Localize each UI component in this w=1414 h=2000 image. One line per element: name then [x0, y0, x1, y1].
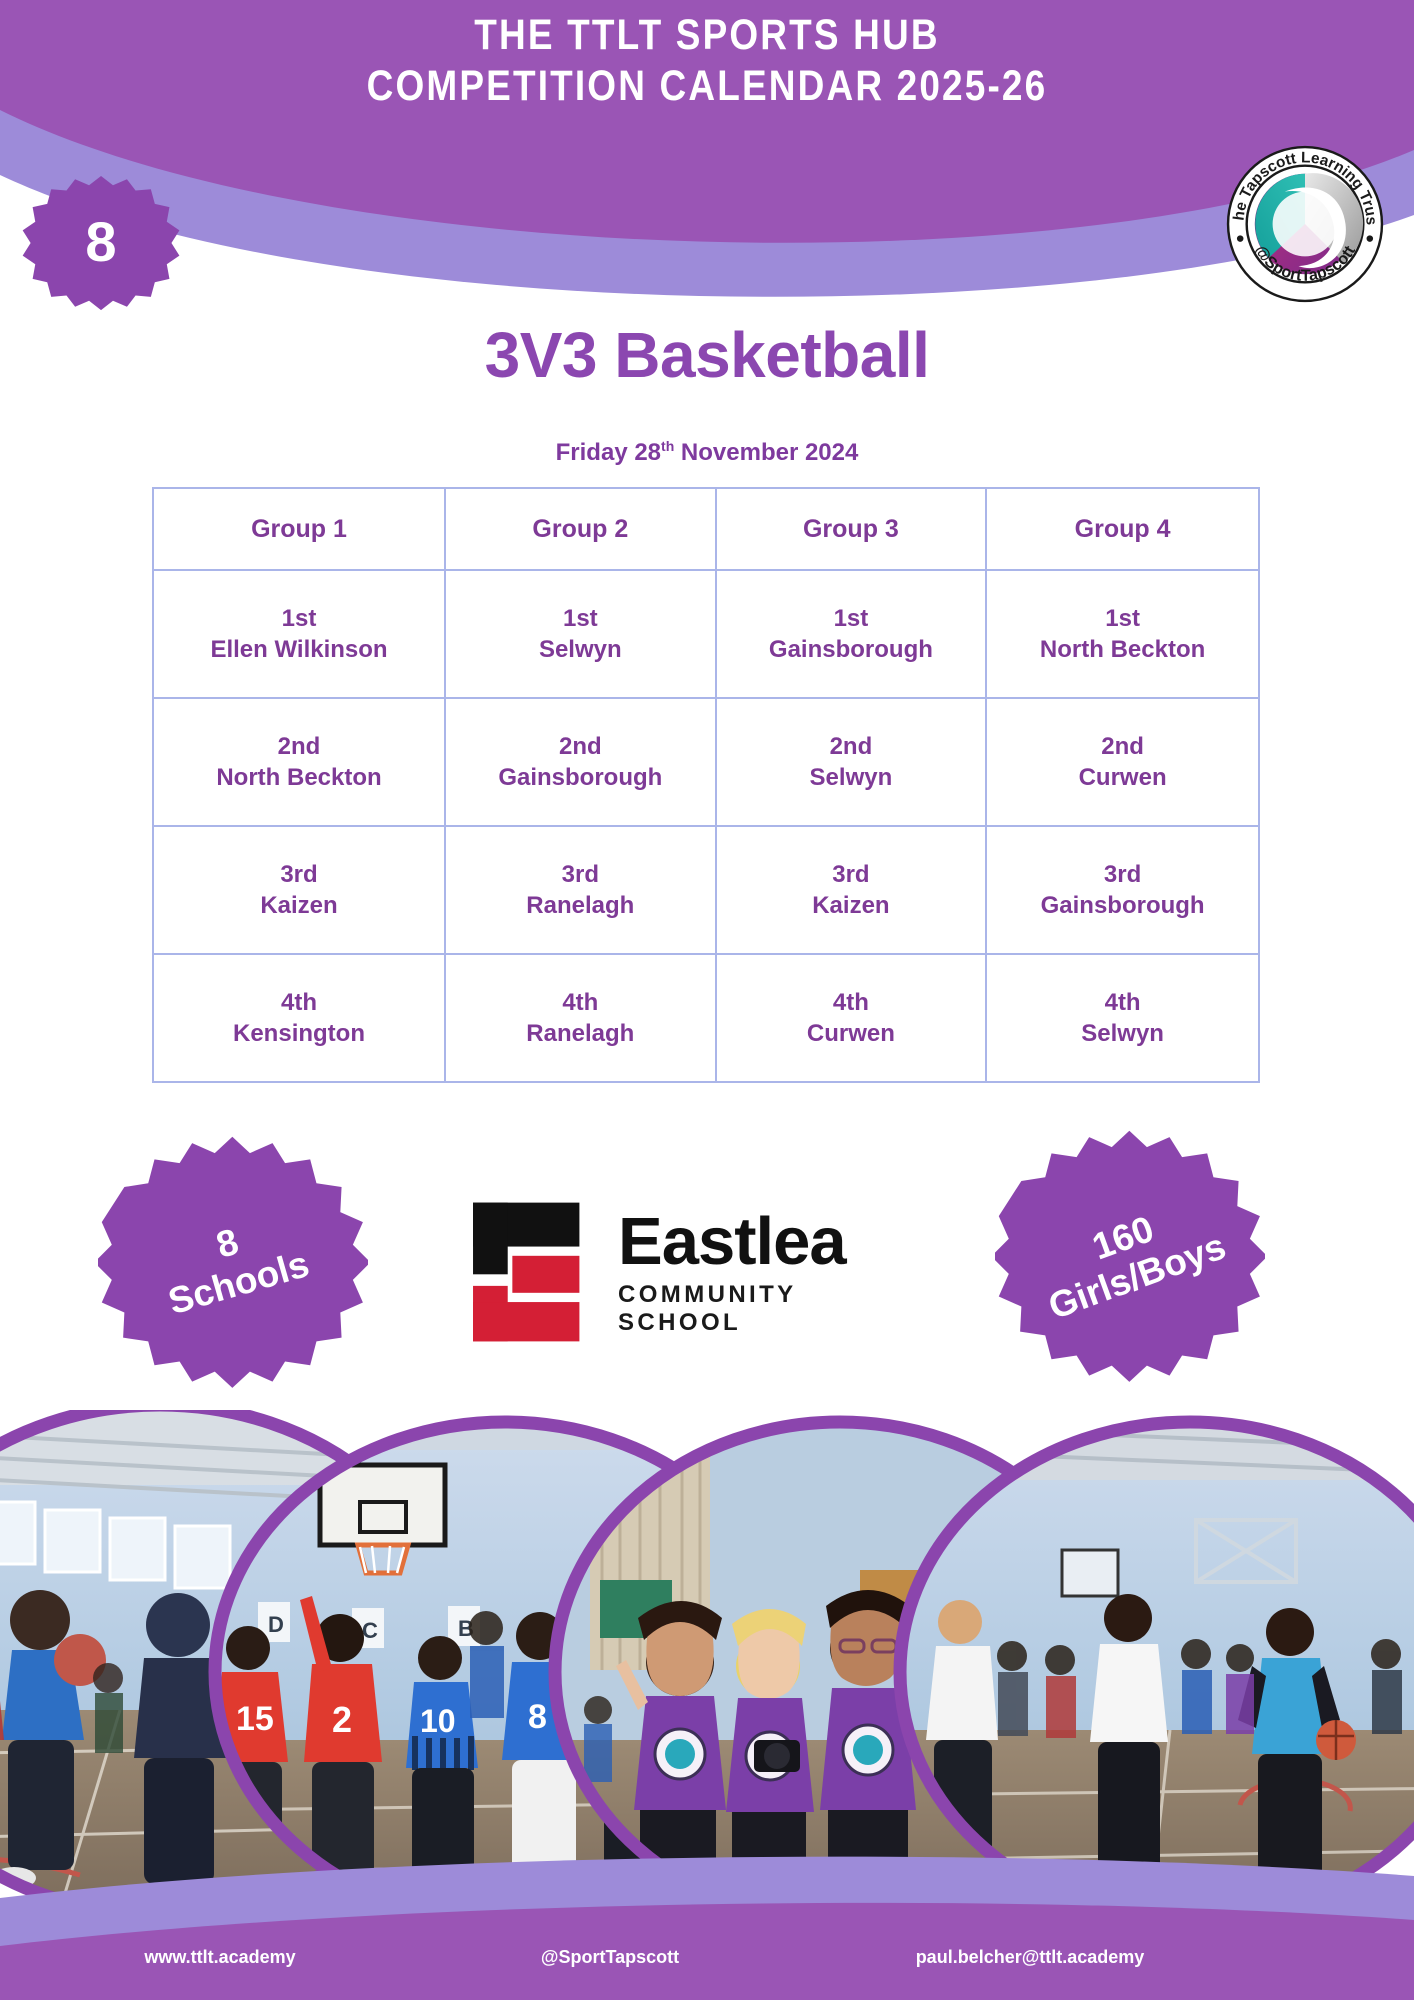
footer-social-handle[interactable]: @SportTapscott [440, 1947, 780, 1968]
footer-contact-bar: www.ttlt.academy @SportTapscott paul.bel… [0, 1947, 1414, 1968]
event-date: Friday 28th November 2024 [0, 438, 1414, 467]
header-line-2: COMPETITION CALENDAR 2025-26 [99, 61, 1315, 112]
table-row: 3rd Kaizen 3rd Ranelagh 3rd Kaizen 3rd G… [153, 826, 1259, 954]
table-cell: 1st North Beckton [986, 570, 1259, 698]
eastlea-e-mark-icon [468, 1198, 596, 1346]
rank-label: 1st [446, 603, 715, 634]
table-cell: 3rd Ranelagh [445, 826, 716, 954]
rank-label: 4th [446, 987, 715, 1018]
table-cell: 4th Kensington [153, 954, 445, 1082]
svg-text:8: 8 [528, 1698, 547, 1736]
rank-label: 2nd [717, 731, 986, 762]
team-name: Selwyn [987, 1018, 1258, 1049]
table-row: 4th Kensington 4th Ranelagh 4th Curwen 4… [153, 954, 1259, 1082]
table-cell: 1st Ellen Wilkinson [153, 570, 445, 698]
team-name: Ellen Wilkinson [154, 634, 444, 665]
photo-gallery-strip: D C B A 15 [0, 1410, 1414, 1910]
table-cell: 3rd Kaizen [153, 826, 445, 954]
stat-value: 8 [212, 1220, 243, 1266]
team-name: Ranelagh [446, 890, 715, 921]
eastlea-community-school-logo: Eastlea COMMUNITY SCHOOL [468, 1182, 928, 1362]
eastlea-name: Eastlea [618, 1208, 928, 1275]
svg-text:2: 2 [332, 1699, 352, 1740]
header-line-1: THE TTLT SPORTS HUB [99, 10, 1315, 61]
team-name: Selwyn [446, 634, 715, 665]
team-name: Curwen [987, 762, 1258, 793]
rank-label: 1st [154, 603, 444, 634]
event-title: 3V3 Basketball [0, 318, 1414, 392]
event-number-badge: 8 [20, 160, 182, 322]
team-name: North Beckton [154, 762, 444, 793]
group-results-table: Group 1 Group 2 Group 3 Group 4 1st Elle… [152, 487, 1260, 1083]
team-name: Kaizen [717, 890, 986, 921]
footer-email[interactable]: paul.belcher@ttlt.academy [780, 1947, 1280, 1968]
table-cell: 1st Gainsborough [716, 570, 987, 698]
eastlea-wordmark: Eastlea COMMUNITY SCHOOL [618, 1208, 928, 1337]
stat-badge-schools: 8 Schools [98, 1128, 368, 1398]
rank-label: 4th [154, 987, 444, 1018]
rank-label: 4th [987, 987, 1258, 1018]
table-cell: 2nd Gainsborough [445, 698, 716, 826]
rank-label: 3rd [446, 859, 715, 890]
poster-root: THE TTLT SPORTS HUB COMPETITION CALENDAR… [0, 0, 1414, 2000]
stat-badge-participants: 160 Girls/Boys [995, 1122, 1265, 1392]
table-header-group-2: Group 2 [445, 488, 716, 570]
table-header-group-3: Group 3 [716, 488, 987, 570]
team-name: North Beckton [987, 634, 1258, 665]
event-number-value: 8 [20, 160, 182, 322]
team-name: Gainsborough [446, 762, 715, 793]
rank-label: 1st [717, 603, 986, 634]
table-cell: 2nd Curwen [986, 698, 1259, 826]
rank-label: 1st [987, 603, 1258, 634]
rank-label: 3rd [154, 859, 444, 890]
table-row: 1st Ellen Wilkinson 1st Selwyn 1st Gains… [153, 570, 1259, 698]
team-name: Gainsborough [717, 634, 986, 665]
table-cell: 3rd Kaizen [716, 826, 987, 954]
team-name: Kensington [154, 1018, 444, 1049]
table-header-group-1: Group 1 [153, 488, 445, 570]
table-header-row: Group 1 Group 2 Group 3 Group 4 [153, 488, 1259, 570]
svg-text:D: D [268, 1612, 284, 1637]
footer-wave-banner [0, 1850, 1414, 2000]
event-date-prefix: Friday 28 [556, 439, 661, 466]
table-cell: 3rd Gainsborough [986, 826, 1259, 954]
rank-label: 2nd [154, 731, 444, 762]
footer-website[interactable]: www.ttlt.academy [0, 1947, 440, 1968]
team-name: Ranelagh [446, 1018, 715, 1049]
table-cell: 4th Curwen [716, 954, 987, 1082]
rank-label: 4th [717, 987, 986, 1018]
tapscott-learning-trust-logo: The Tapscott Learning Trust @SportTapsco… [1224, 143, 1386, 305]
team-name: Kaizen [154, 890, 444, 921]
table-cell: 4th Selwyn [986, 954, 1259, 1082]
table-cell: 2nd Selwyn [716, 698, 987, 826]
eastlea-subtitle: COMMUNITY SCHOOL [618, 1281, 928, 1337]
rank-label: 2nd [987, 731, 1258, 762]
table-cell: 2nd North Beckton [153, 698, 445, 826]
svg-text:10: 10 [420, 1703, 456, 1739]
table-row: 2nd North Beckton 2nd Gainsborough 2nd S… [153, 698, 1259, 826]
svg-text:C: C [362, 1618, 378, 1643]
event-date-ordinal: th [661, 438, 674, 454]
table-cell: 4th Ranelagh [445, 954, 716, 1082]
event-date-suffix: November 2024 [674, 439, 858, 466]
rank-label: 3rd [987, 859, 1258, 890]
rank-label: 2nd [446, 731, 715, 762]
team-name: Selwyn [717, 762, 986, 793]
team-name: Gainsborough [987, 890, 1258, 921]
rank-label: 3rd [717, 859, 986, 890]
svg-text:15: 15 [236, 1700, 274, 1738]
table-header-group-4: Group 4 [986, 488, 1259, 570]
table-cell: 1st Selwyn [445, 570, 716, 698]
poster-header-title: THE TTLT SPORTS HUB COMPETITION CALENDAR… [99, 10, 1315, 111]
team-name: Curwen [717, 1018, 986, 1049]
